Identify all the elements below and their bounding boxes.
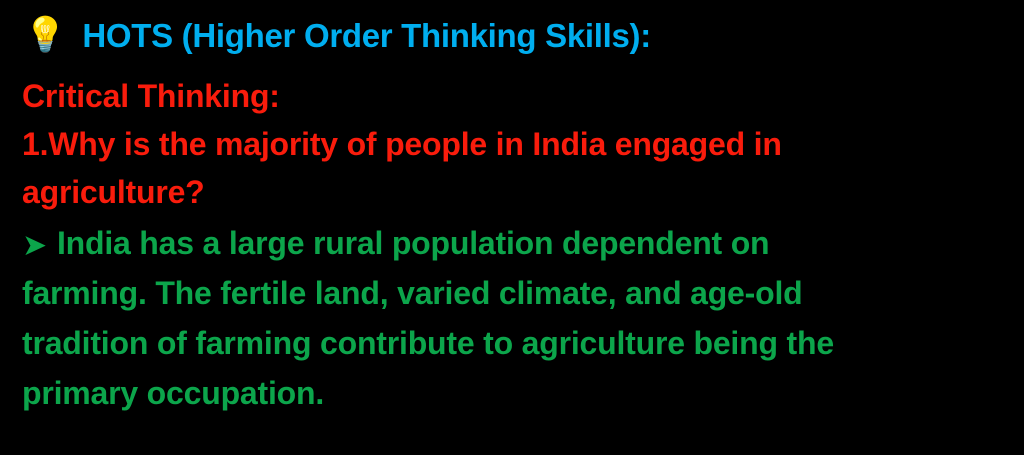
- lightbulb-icon: 💡: [24, 18, 66, 52]
- hots-heading-text: HOTS (Higher Order Thinking Skills):: [82, 19, 651, 52]
- arrow-right-icon: ➤: [22, 231, 47, 261]
- answer-block: ➤ India has a large rural population dep…: [22, 218, 1022, 418]
- answer-line-3: tradition of farming contribute to agric…: [22, 318, 1022, 368]
- critical-thinking-subheading: Critical Thinking:: [22, 72, 1012, 120]
- answer-line-1-row: ➤ India has a large rural population dep…: [22, 218, 1022, 268]
- slide-canvas: 💡 HOTS (Higher Order Thinking Skills): C…: [0, 0, 1024, 455]
- answer-line-2: farming. The fertile land, varied climat…: [22, 268, 1022, 318]
- question-line-2: agriculture?: [22, 168, 1012, 216]
- question-line-1: 1.Why is the majority of people in India…: [22, 120, 1012, 168]
- hots-heading: 💡 HOTS (Higher Order Thinking Skills):: [24, 12, 651, 58]
- answer-line-4: primary occupation.: [22, 368, 1022, 418]
- critical-thinking-block: Critical Thinking: 1.Why is the majority…: [22, 72, 1012, 216]
- answer-line-1: India has a large rural population depen…: [57, 218, 769, 268]
